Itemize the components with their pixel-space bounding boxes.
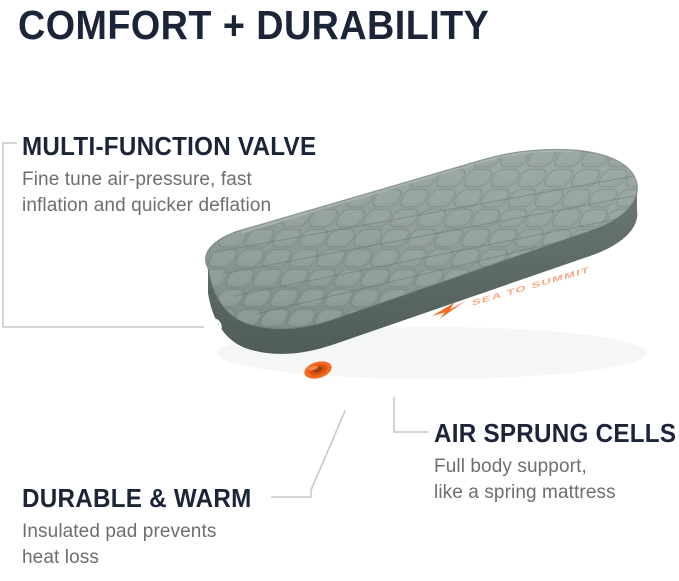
callout-body-durable: Insulated pad prevents heat loss [22,519,269,571]
callout-air-sprung-cells: AIR SPRUNG CELLS Full body support, like… [434,418,679,506]
leader-durable [272,411,345,497]
callout-heading-durable: DURABLE & WARM [22,483,252,513]
page-title: COMFORT + DURABILITY [18,2,489,48]
infographic-canvas: COMFORT + DURABILITY [0,0,679,581]
callout-body-cells: Full body support, like a spring mattres… [434,454,679,506]
callout-durable-and-warm: DURABLE & WARM Insulated pad prevents he… [22,483,269,571]
callout-heading-cells: AIR SPRUNG CELLS [434,418,676,448]
callout-heading-valve: MULTI-FUNCTION VALVE [22,131,316,161]
callout-body-valve: Fine tune air-pressure, fast inflation a… [22,167,339,219]
callout-multi-function-valve: MULTI-FUNCTION VALVE Fine tune air-press… [22,131,339,219]
